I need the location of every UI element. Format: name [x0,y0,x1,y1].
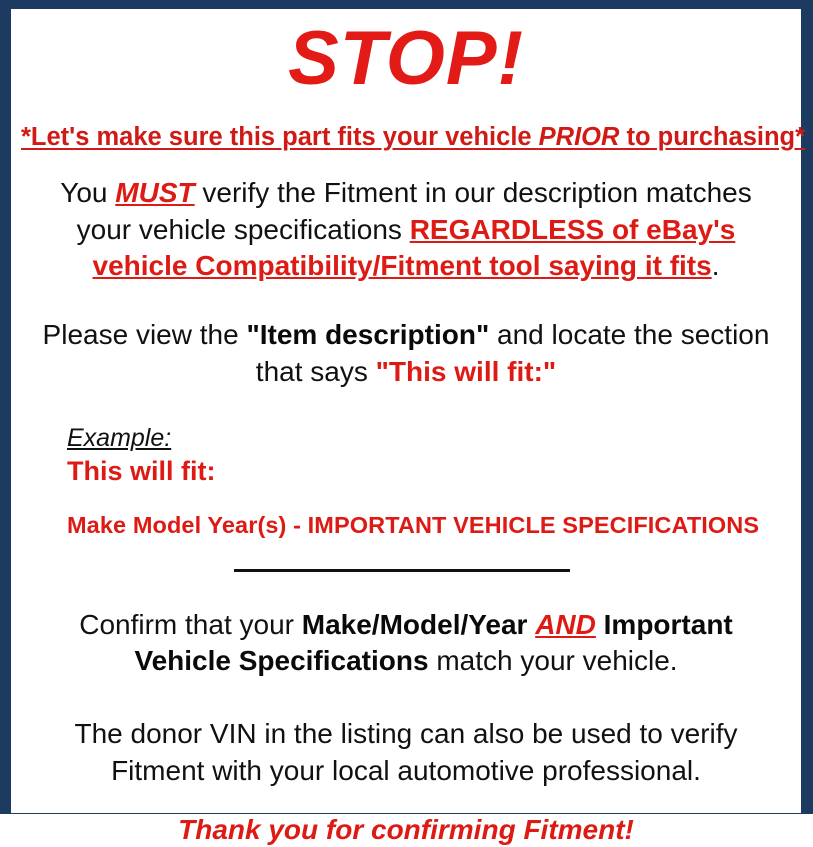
and-emphasis: AND [535,609,596,640]
section-divider [234,569,570,572]
confirm-part1: Confirm that your [79,609,302,640]
example-spec-line: Make Model Year(s) - IMPORTANT VEHICLE S… [67,511,791,539]
tagline-prefix: *Let's make sure this part fits your veh… [21,123,539,151]
donor-vin-paragraph: The donor VIN in the listing can also be… [21,716,791,789]
item-description-label: "Item description" [246,319,489,350]
item-desc-part1: Please view the [43,319,247,350]
this-will-fit-quote: "This will fit:" [376,356,557,387]
make-model-year-emphasis: Make/Model/Year [302,609,528,640]
tagline-emphasis: PRIOR [539,123,620,151]
must-emphasis: MUST [115,177,194,208]
must-para-part1: You [60,177,115,208]
item-description-paragraph: Please view the "Item description" and l… [21,317,791,390]
example-fits-heading: This will fit: [67,455,791,487]
page-title: STOP! [21,21,791,97]
section-divider-wrap [21,559,791,577]
must-verify-paragraph: You MUST verify the Fitment in our descr… [21,175,791,285]
confirm-space-2 [596,609,604,640]
thank-you-message: Thank you for confirming Fitment! [21,813,791,847]
tagline-banner: *Let's make sure this part fits your veh… [21,123,791,151]
example-block: Example: This will fit: Make Model Year(… [21,424,791,538]
example-label: Example: [67,424,791,453]
confirm-paragraph: Confirm that your Make/Model/Year AND Im… [21,607,791,680]
fitment-notice-card: STOP! *Let's make sure this part fits yo… [0,0,813,814]
confirm-part2: match your vehicle. [429,645,678,676]
fitment-notice-body: STOP! *Let's make sure this part fits yo… [11,21,801,813]
tagline-suffix: to purchasing* [619,123,805,151]
must-para-part3: . [712,250,720,281]
